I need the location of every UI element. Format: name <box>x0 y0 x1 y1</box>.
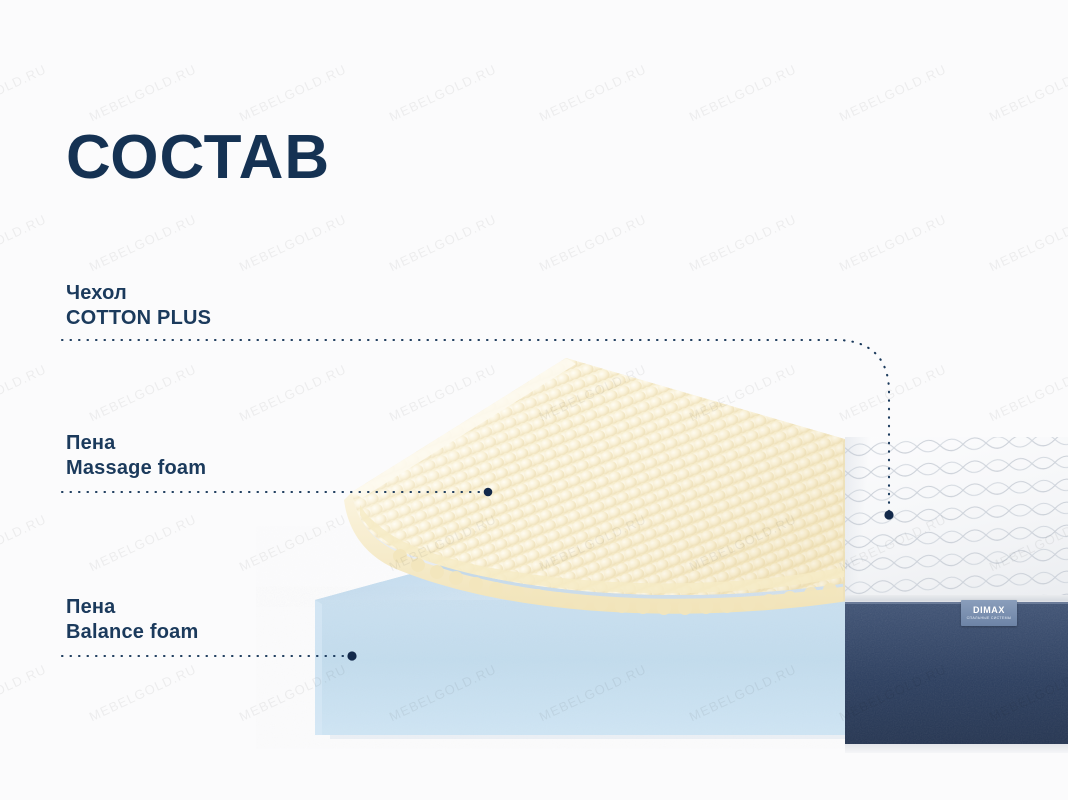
dimax-brand-tag: DIMAX СПАЛЬНЫЕ СИСТЕМЫ <box>961 600 1017 626</box>
layer-label-massage-ru: Пена <box>66 431 206 456</box>
composition-infographic: DIMAX СПАЛЬНЫЕ СИСТЕМЫ СОСТАВ Чехол COTT… <box>0 0 1068 800</box>
layer-label-massage: Пена Massage foam <box>66 431 206 481</box>
cover-quilted-panel <box>845 437 1068 598</box>
dimax-tag-subtitle: СПАЛЬНЫЕ СИСТЕМЫ <box>967 617 1012 621</box>
mattress-base-strip <box>845 744 1068 753</box>
layer-label-massage-en: Massage foam <box>66 456 206 481</box>
page-title: СОСТАВ <box>66 127 330 189</box>
layer-label-cover: Чехол COTTON PLUS <box>66 281 211 331</box>
mattress-illustration: DIMAX СПАЛЬНЫЕ СИСТЕМЫ <box>0 0 1068 800</box>
side-panel-fabric <box>845 604 1068 744</box>
layer-label-cover-en: COTTON PLUS <box>66 306 211 331</box>
layer-label-balance-ru: Пена <box>66 595 198 620</box>
dimax-tag-name: DIMAX <box>973 606 1005 615</box>
layer-label-balance: Пена Balance foam <box>66 595 198 645</box>
cover-edge-shadow <box>845 437 1068 598</box>
side-panel-shading <box>845 604 1068 744</box>
layer-label-balance-en: Balance foam <box>66 620 198 645</box>
layer-label-cover-ru: Чехол <box>66 281 211 306</box>
